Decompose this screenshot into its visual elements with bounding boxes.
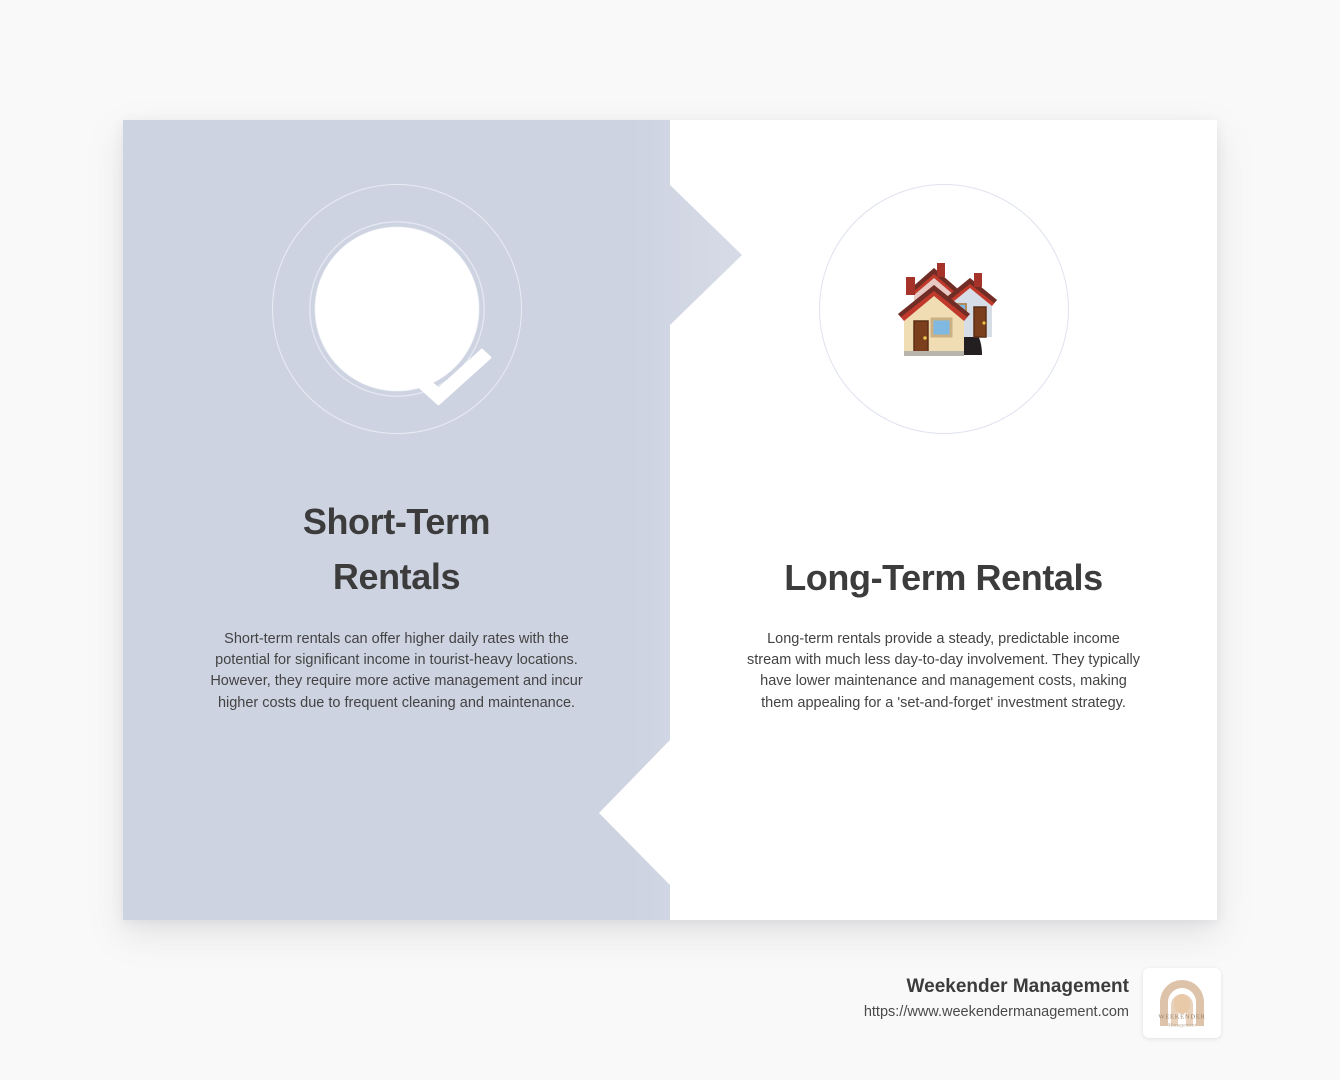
- short-term-title: Short-Term Rentals: [257, 494, 537, 604]
- footer: Weekender Management https://www.weekend…: [0, 960, 1340, 1050]
- short-term-description: Short-term rentals can offer higher dail…: [198, 629, 596, 714]
- long-term-rentals-column: Long-Term Rentals Long-term rentals prov…: [670, 120, 1217, 920]
- brand-text-block: Weekender Management https://www.weekend…: [864, 974, 1129, 1024]
- long-term-description: Long-term rentals provide a steady, pred…: [745, 629, 1143, 714]
- brand-url[interactable]: https://www.weekendermanagement.com: [864, 1000, 1129, 1024]
- long-term-icon-circle: [819, 184, 1069, 434]
- svg-text:Management: Management: [1167, 1023, 1197, 1029]
- rental-comparison-card: Short-Term Rentals Short-term rentals ca…: [123, 120, 1217, 920]
- short-term-icon-circle: [272, 184, 522, 434]
- brand-name: Weekender Management: [864, 974, 1129, 1000]
- long-term-title: Long-Term Rentals: [734, 550, 1154, 605]
- brand-logo-tile: WEEKENDER Management: [1143, 968, 1221, 1038]
- arch-doorway-logo-icon: WEEKENDER Management: [1151, 974, 1213, 1032]
- short-term-rentals-column: Short-Term Rentals Short-term rentals ca…: [123, 120, 670, 920]
- houses-icon: [890, 259, 998, 359]
- svg-text:WEEKENDER: WEEKENDER: [1158, 1014, 1205, 1021]
